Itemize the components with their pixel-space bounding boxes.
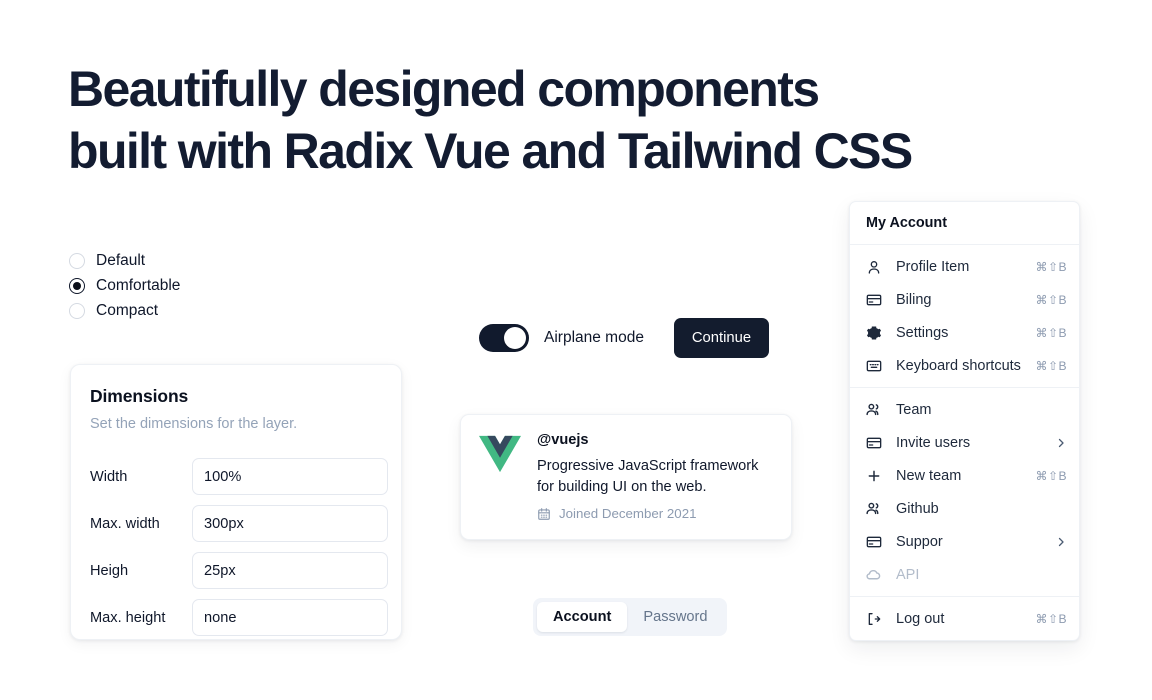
- vue-logo-icon: [479, 435, 521, 473]
- tab-password[interactable]: Password: [627, 602, 723, 632]
- field-row-height: Heigh: [71, 547, 401, 594]
- density-radio-group: Default Comfortable Compact: [69, 248, 180, 323]
- menu-item-shortcut: ⌘⇧B: [1036, 326, 1068, 340]
- tab-account[interactable]: Account: [537, 602, 627, 632]
- menu-item-label: Log out: [896, 611, 1036, 627]
- menu-item-shortcut: ⌘⇧B: [1036, 359, 1068, 373]
- max-width-input[interactable]: [192, 505, 388, 542]
- menu-item-api: API: [850, 558, 1079, 591]
- field-row-max-width: Max. width: [71, 500, 401, 547]
- menu-item-label: API: [896, 567, 1067, 583]
- radio-indicator-comfortable[interactable]: [69, 278, 85, 294]
- field-label-max-width: Max. width: [90, 516, 192, 532]
- account-dropdown-menu: My Account Profile Item ⌘⇧B Biling: [849, 201, 1080, 641]
- dimensions-title: Dimensions: [71, 386, 401, 407]
- menu-item-label: Suppor: [896, 534, 1055, 550]
- menu-item-new-team[interactable]: New team ⌘⇧B: [850, 459, 1079, 492]
- logout-icon: [865, 610, 882, 627]
- chevron-right-icon: [1055, 437, 1067, 449]
- dimensions-fields: Width Max. width Heigh Max. height: [71, 453, 401, 641]
- hover-card-description: Progressive JavaScript framework for bui…: [537, 456, 777, 497]
- menu-item-github[interactable]: Github: [850, 492, 1079, 525]
- page-title-line-1: Beautifully designed components: [68, 61, 819, 117]
- credit-card-icon: [865, 434, 882, 451]
- menu-group-session: Log out ⌘⇧B: [850, 597, 1079, 640]
- radio-label-default: Default: [96, 252, 145, 270]
- gear-icon: [865, 324, 882, 341]
- dimensions-subtitle: Set the dimensions for the layer.: [71, 416, 401, 432]
- radio-option-comfortable[interactable]: Comfortable: [69, 273, 180, 298]
- radio-option-compact[interactable]: Compact: [69, 298, 180, 323]
- settings-tabs: Account Password: [533, 598, 727, 636]
- airplane-mode-label: Airplane mode: [544, 329, 644, 347]
- width-input[interactable]: [192, 458, 388, 495]
- hover-card-handle: @vuejs: [537, 432, 777, 448]
- airplane-mode-switch-group: Airplane mode: [479, 324, 644, 352]
- users-icon: [865, 401, 882, 418]
- cloud-icon: [865, 566, 882, 583]
- menu-item-shortcut: ⌘⇧B: [1036, 612, 1068, 626]
- vue-hover-card: @vuejs Progressive JavaScript framework …: [460, 414, 792, 540]
- field-row-width: Width: [71, 453, 401, 500]
- keyboard-icon: [865, 357, 882, 374]
- max-height-input[interactable]: [192, 599, 388, 636]
- field-row-max-height: Max. height: [71, 594, 401, 641]
- page-title-line-2: built with Radix Vue and Tailwind CSS: [68, 120, 1028, 182]
- menu-item-billing[interactable]: Biling ⌘⇧B: [850, 283, 1079, 316]
- radio-indicator-compact[interactable]: [69, 303, 85, 319]
- radio-indicator-default[interactable]: [69, 253, 85, 269]
- menu-item-label: Biling: [896, 292, 1036, 308]
- hover-card-joined-text: Joined December 2021: [559, 506, 697, 521]
- menu-item-label: Team: [896, 402, 1067, 418]
- menu-item-label: Github: [896, 501, 1067, 517]
- menu-item-label: Settings: [896, 325, 1036, 341]
- calendar-icon: [537, 507, 551, 521]
- menu-group-account: Profile Item ⌘⇧B Biling ⌘⇧B: [850, 245, 1079, 387]
- menu-item-shortcut: ⌘⇧B: [1036, 293, 1068, 307]
- menu-item-label: Keyboard shortcuts: [896, 358, 1036, 374]
- menu-item-profile[interactable]: Profile Item ⌘⇧B: [850, 250, 1079, 283]
- page-root: Beautifully designed components built wi…: [0, 0, 1152, 700]
- menu-item-label: New team: [896, 468, 1036, 484]
- plus-icon: [865, 467, 882, 484]
- hover-card-joined: Joined December 2021: [537, 506, 777, 521]
- menu-item-label: Invite users: [896, 435, 1055, 451]
- user-icon: [865, 258, 882, 275]
- menu-item-settings[interactable]: Settings ⌘⇧B: [850, 316, 1079, 349]
- radio-option-default[interactable]: Default: [69, 248, 180, 273]
- users-icon: [865, 500, 882, 517]
- menu-item-team[interactable]: Team: [850, 393, 1079, 426]
- airplane-mode-switch[interactable]: [479, 324, 529, 352]
- credit-card-icon: [865, 533, 882, 550]
- menu-header-my-account: My Account: [850, 202, 1079, 244]
- menu-item-log-out[interactable]: Log out ⌘⇧B: [850, 602, 1079, 635]
- menu-item-shortcut: ⌘⇧B: [1036, 469, 1068, 483]
- switch-knob: [504, 327, 527, 350]
- menu-item-support[interactable]: Suppor: [850, 525, 1079, 558]
- dimensions-card: Dimensions Set the dimensions for the la…: [70, 364, 402, 640]
- menu-item-invite-users[interactable]: Invite users: [850, 426, 1079, 459]
- chevron-right-icon: [1055, 536, 1067, 548]
- menu-item-keyboard-shortcuts[interactable]: Keyboard shortcuts ⌘⇧B: [850, 349, 1079, 382]
- hover-card-body: @vuejs Progressive JavaScript framework …: [537, 432, 777, 539]
- field-label-width: Width: [90, 469, 192, 485]
- radio-label-comfortable: Comfortable: [96, 277, 180, 295]
- menu-item-label: Profile Item: [896, 259, 1036, 275]
- continue-button[interactable]: Continue: [674, 318, 769, 358]
- height-input[interactable]: [192, 552, 388, 589]
- field-label-height: Heigh: [90, 563, 192, 579]
- radio-label-compact: Compact: [96, 302, 158, 320]
- menu-group-team: Team Invite users New team ⌘: [850, 388, 1079, 596]
- credit-card-icon: [865, 291, 882, 308]
- menu-item-shortcut: ⌘⇧B: [1036, 260, 1068, 274]
- field-label-max-height: Max. height: [90, 610, 192, 626]
- page-title: Beautifully designed components built wi…: [68, 58, 1028, 182]
